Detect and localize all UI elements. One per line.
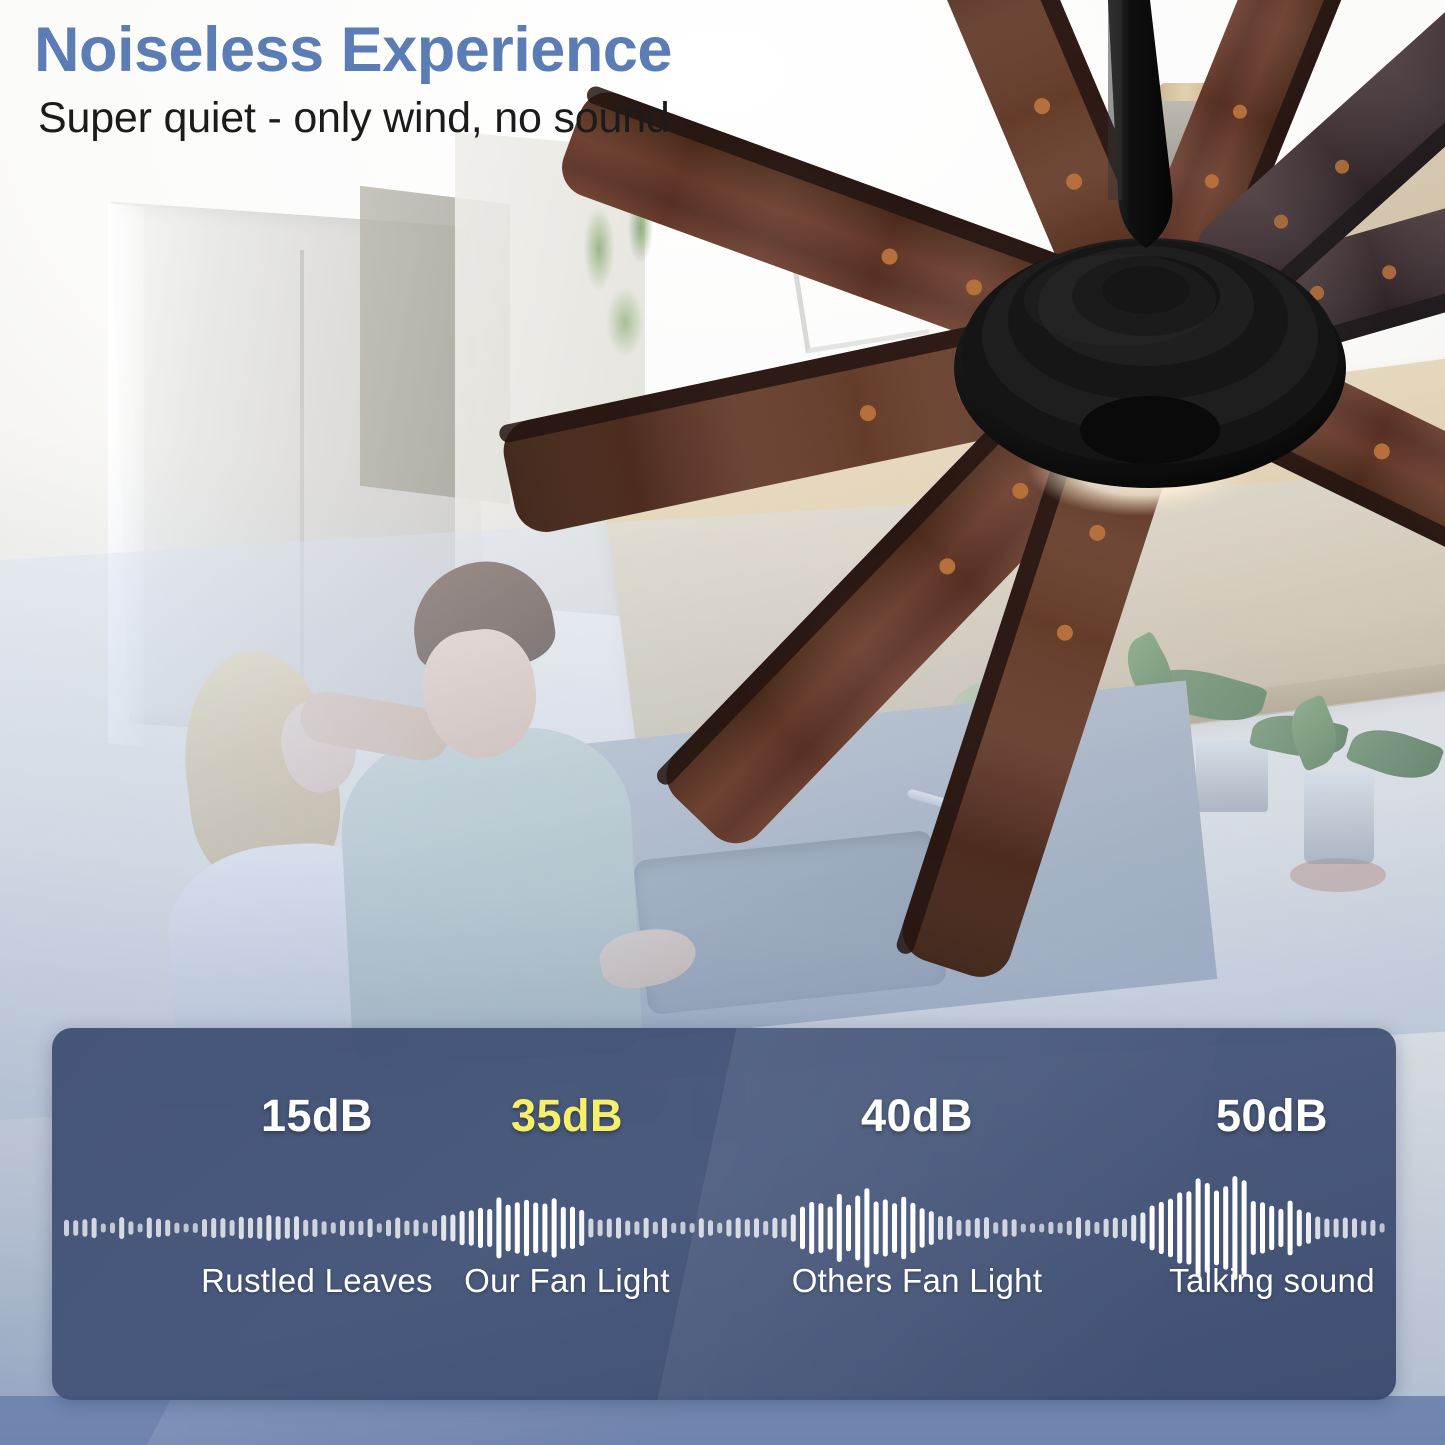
refrigerator-door-seam bbox=[300, 250, 304, 720]
waveform-caption-2: Our Fan Light bbox=[464, 1262, 670, 1300]
page-title: Noiseless Experience bbox=[34, 18, 672, 84]
glass-planter bbox=[1196, 740, 1268, 812]
db-value-1: 15dB bbox=[261, 1090, 373, 1142]
page-subtitle: Super quiet - only wind, no sound bbox=[38, 94, 672, 143]
faucet-base bbox=[924, 929, 965, 948]
db-value-3: 40dB bbox=[861, 1090, 973, 1142]
glass-vase bbox=[1304, 772, 1374, 864]
headline-block: Noiseless Experience Super quiet - only … bbox=[34, 18, 672, 143]
db-value-2: 35dB bbox=[511, 1090, 623, 1142]
bottom-strip bbox=[0, 1396, 1445, 1445]
background-plant bbox=[560, 175, 690, 385]
waveform-caption-4: Talking sound bbox=[1169, 1262, 1375, 1300]
storage-basket bbox=[1145, 95, 1232, 167]
sink-basin bbox=[633, 830, 948, 1016]
product-marketing-image: Noiseless Experience Super quiet - only … bbox=[0, 0, 1445, 1445]
refrigerator-highlight bbox=[108, 203, 144, 747]
man-shirt bbox=[337, 723, 644, 1068]
waveform-caption-1: Rustled Leaves bbox=[201, 1262, 433, 1300]
waveform-caption-3: Others Fan Light bbox=[792, 1262, 1043, 1300]
db-value-4: 50dB bbox=[1216, 1090, 1328, 1142]
